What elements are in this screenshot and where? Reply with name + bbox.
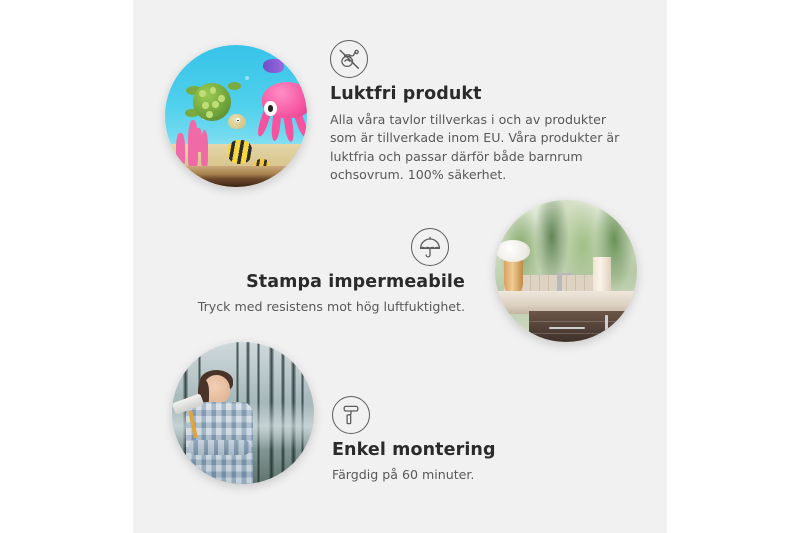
feature-body: Tryck med resistens mot hög luftfuktighe…: [195, 298, 465, 316]
wood-floor: [165, 166, 307, 187]
feature-image-installer-forest-mural: [172, 342, 314, 484]
icon-wrap: [330, 40, 622, 78]
feature-block-odourless: Luktfri produkt Alla våra tavlor tillver…: [330, 40, 622, 184]
wood-cabinet: [529, 311, 637, 342]
faucet: [557, 274, 561, 291]
feature-title: Stampa impermeabile: [195, 272, 465, 294]
bathroom-scene: [495, 200, 637, 342]
umbrella-icon: [411, 228, 449, 266]
promo-canvas: Luktfri produkt Alla våra tavlor tillver…: [0, 0, 800, 533]
striped-fish: [227, 140, 251, 164]
decor-box: [593, 257, 611, 294]
no-fragrance-icon: [330, 40, 368, 78]
icon-wrap: [195, 228, 465, 272]
turtle-head: [228, 114, 246, 129]
pink-octopus: [259, 82, 307, 144]
installer-person: [181, 373, 269, 484]
underwater-scene: [165, 45, 307, 187]
feature-body: Färgdig på 60 minuter.: [332, 466, 612, 484]
paint-roller-icon: [332, 396, 370, 434]
gold-vase: [504, 257, 524, 294]
icon-wrap: [332, 396, 612, 434]
feature-block-easy-install: Enkel montering Färgdig på 60 minuter.: [332, 396, 612, 484]
feature-block-waterproof: Stampa impermeabile Tryck med resistens …: [195, 228, 465, 316]
feature-title: Enkel montering: [332, 440, 612, 462]
folded-arms: [188, 440, 251, 456]
turtle-fin: [228, 82, 241, 90]
feature-image-underwater-cartoon-mural: [165, 45, 307, 187]
forest-scene: [172, 342, 314, 484]
feature-title: Luktfri produkt: [330, 84, 622, 106]
feature-body: Alla våra tavlor tillverkas i och av pro…: [330, 111, 622, 185]
purple-fish: [263, 59, 284, 73]
feature-image-bathroom-tropical-wallpaper: [495, 200, 637, 342]
coral: [174, 116, 222, 167]
